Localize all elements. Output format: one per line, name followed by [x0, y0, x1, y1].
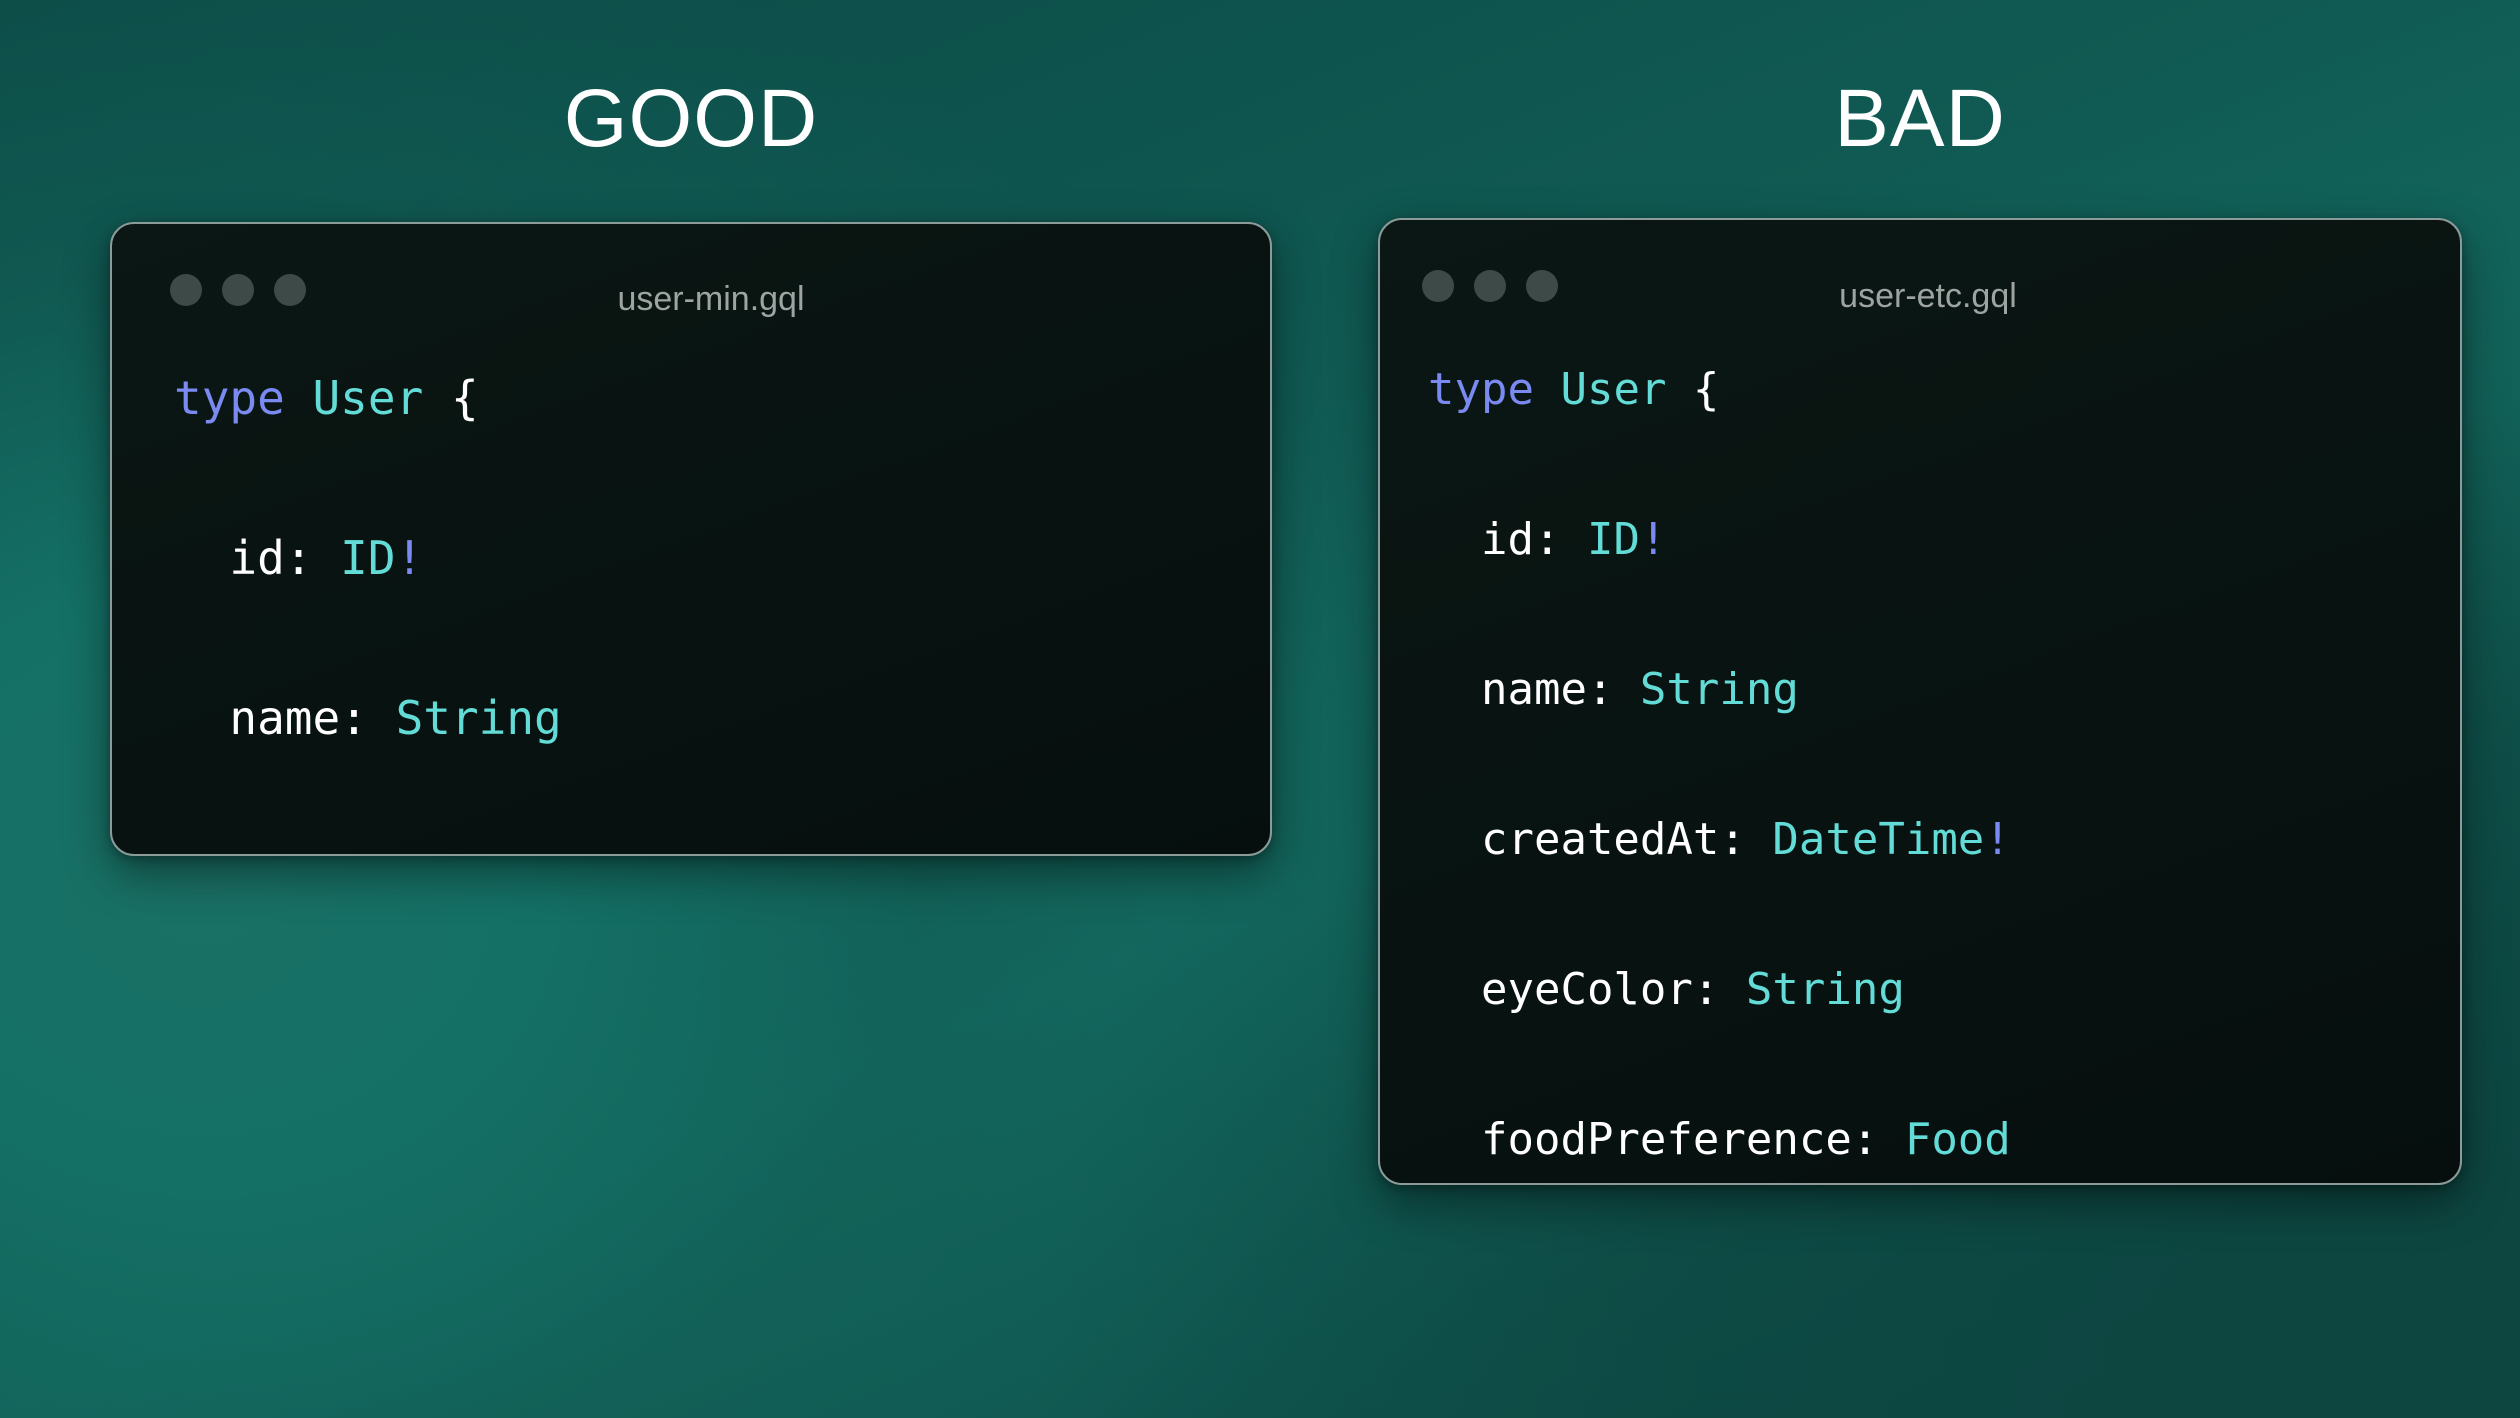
code-token: type [1428, 364, 1534, 415]
code-token: id: [174, 531, 340, 585]
code-token: User [1560, 364, 1666, 415]
window-filename-good: user-min.gql [112, 282, 1270, 316]
code-token: ID [1587, 514, 1640, 565]
code-token: ! [1984, 814, 2011, 865]
column-heading-bad: BAD [1378, 78, 2462, 160]
code-token: ID [340, 531, 395, 585]
code-token: User [312, 371, 423, 425]
code-token: DateTime [1772, 814, 1984, 865]
code-token: id: [1428, 514, 1587, 565]
code-line: eyeColor: String [1428, 952, 2460, 1027]
code-window-bad: user-etc.gql type User { id: ID! name: S… [1378, 218, 2462, 1185]
code-window-good: user-min.gql type User { id: ID! name: S… [110, 222, 1272, 856]
code-token [1534, 364, 1561, 415]
code-token: String [1640, 664, 1799, 715]
code-line: createdAt: DateTime! [174, 838, 1270, 856]
code-token: ! [1640, 514, 1667, 565]
code-token: String [396, 691, 562, 745]
code-token: DateTime [534, 851, 756, 856]
code-line: type User { [1428, 352, 2460, 427]
code-token: createdAt: [174, 851, 534, 856]
code-line: name: String [1428, 652, 2460, 727]
code-token: ! [396, 531, 424, 585]
code-line: type User { [174, 358, 1270, 438]
code-block-good: type User { id: ID! name: String created… [112, 336, 1270, 856]
code-token: foodPreference: [1428, 1114, 1905, 1165]
code-token: name: [1428, 664, 1640, 715]
code-token: String [1746, 964, 1905, 1015]
code-token: eyeColor: [1428, 964, 1746, 1015]
code-token: type [174, 371, 285, 425]
code-token: { [423, 371, 478, 425]
code-line: id: ID! [1428, 502, 2460, 577]
code-line: createdAt: DateTime! [1428, 802, 2460, 877]
column-heading-good: GOOD [110, 78, 1272, 160]
code-token [285, 371, 313, 425]
code-token: name: [174, 691, 396, 745]
code-line: name: String [174, 678, 1270, 758]
window-titlebar-bad: user-etc.gql [1380, 220, 2460, 334]
code-line: id: ID! [174, 518, 1270, 598]
code-token: createdAt: [1428, 814, 1772, 865]
window-titlebar-good: user-min.gql [112, 224, 1270, 336]
comparison-stage: GOOD user-min.gql type User { id: ID! na… [0, 0, 2520, 1418]
code-block-bad: type User { id: ID! name: String created… [1380, 334, 2460, 1185]
code-token: ! [756, 851, 784, 856]
code-line: foodPreference: Food [1428, 1102, 2460, 1177]
window-filename-bad: user-etc.gql [1380, 279, 2460, 313]
code-token: { [1666, 364, 1719, 415]
code-token: Food [1905, 1114, 2011, 1165]
